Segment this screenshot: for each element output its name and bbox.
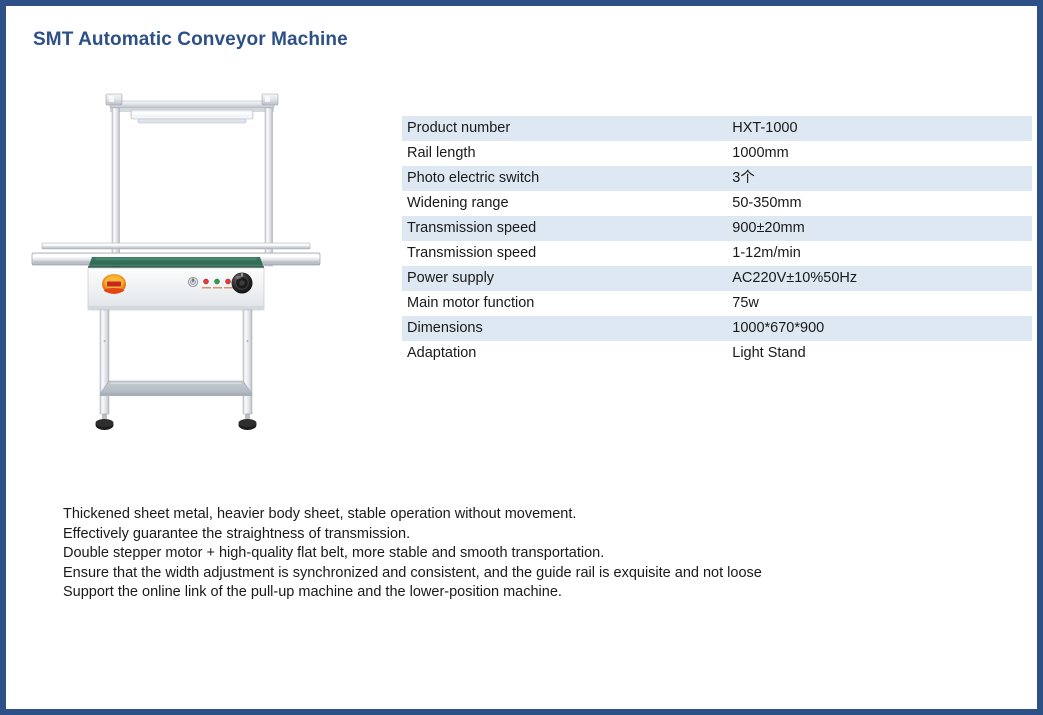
table-row: Main motor function 75w (402, 291, 1032, 316)
feature-line: Effectively guarantee the straightness o… (63, 525, 762, 545)
spec-key: Transmission speed (402, 241, 727, 266)
spec-value: 3个 (727, 166, 1032, 191)
indicator-lamp-red-1 (204, 279, 209, 284)
conveyor-belt (88, 257, 264, 269)
overhead-light-bar (131, 110, 253, 123)
spec-key: Power supply (402, 266, 727, 291)
indicator-lamp-red-2 (226, 279, 231, 284)
spec-value: 1-12m/min (727, 241, 1032, 266)
table-row: Widening range 50-350mm (402, 191, 1032, 216)
brand-logo-icon (102, 274, 126, 294)
spec-value: AC220V±10%50Hz (727, 266, 1032, 291)
product-image (26, 91, 326, 441)
spec-key: Adaptation (402, 341, 727, 366)
machine-stand (100, 310, 252, 414)
spec-value: HXT-1000 (727, 116, 1032, 141)
spec-value: 900±20mm (727, 216, 1032, 241)
spec-key: Product number (402, 116, 727, 141)
spec-value: 50-350mm (727, 191, 1032, 216)
spec-value: 1000*670*900 (727, 316, 1032, 341)
spec-value: Light Stand (727, 341, 1032, 366)
spec-key: Transmission speed (402, 216, 727, 241)
product-spec-page: SMT Automatic Conveyor Machine (0, 0, 1043, 715)
indicator-lamp-green (215, 279, 220, 284)
spec-value: 75w (727, 291, 1032, 316)
table-row: Product number HXT-1000 (402, 116, 1032, 141)
spec-value: 1000mm (727, 141, 1032, 166)
spec-key: Rail length (402, 141, 727, 166)
leveling-feet (96, 414, 257, 430)
table-row: Photo electric switch 3个 (402, 166, 1032, 191)
table-row: Rail length 1000mm (402, 141, 1032, 166)
feature-line: Double stepper motor + high-quality flat… (63, 544, 762, 564)
page-title: SMT Automatic Conveyor Machine (33, 29, 348, 51)
feature-list: Thickened sheet metal, heavier body shee… (63, 505, 762, 603)
table-row: Adaptation Light Stand (402, 341, 1032, 366)
spec-key: Widening range (402, 191, 727, 216)
table-row: Transmission speed 1-12m/min (402, 241, 1032, 266)
table-row: Power supply AC220V±10%50Hz (402, 266, 1032, 291)
spec-table-body: Product number HXT-1000 Rail length 1000… (402, 116, 1032, 366)
spec-key: Main motor function (402, 291, 727, 316)
table-row: Transmission speed 900±20mm (402, 216, 1032, 241)
feature-line: Ensure that the width adjustment is sync… (63, 564, 762, 584)
spec-key: Dimensions (402, 316, 727, 341)
conveyor-machine-illustration (26, 91, 326, 441)
table-row: Dimensions 1000*670*900 (402, 316, 1032, 341)
feature-line: Thickened sheet metal, heavier body shee… (63, 505, 762, 525)
feature-line: Support the online link of the pull-up m… (63, 583, 762, 603)
specification-table: Product number HXT-1000 Rail length 1000… (402, 116, 1032, 366)
spec-key: Photo electric switch (402, 166, 727, 191)
